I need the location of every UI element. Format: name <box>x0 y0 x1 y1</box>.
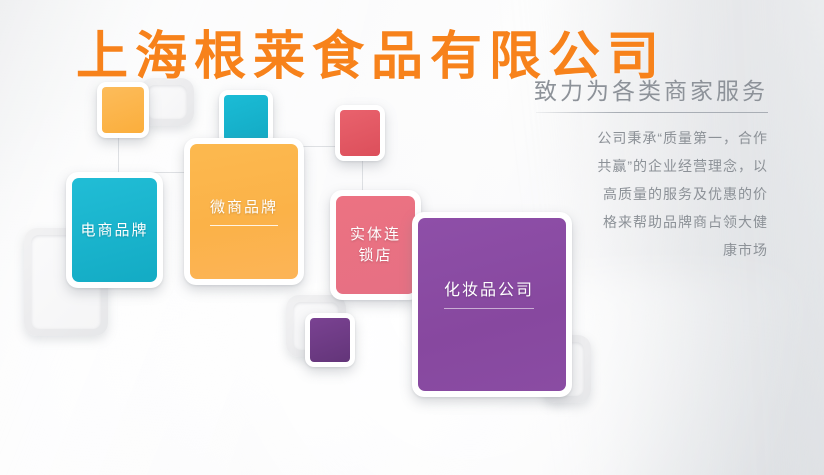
accent-square-purple[interactable] <box>305 313 355 367</box>
tile-retail-face: 实体连 锁店 <box>336 196 415 294</box>
page-subtitle: 致力为各类商家服务 <box>534 72 768 106</box>
poster-canvas: 电商品牌 微商品牌 实体连 锁店 化妆品公司 上海根莱食品有限公司 致力为各类商… <box>0 0 824 475</box>
accent-square-orange-face <box>102 87 144 133</box>
tile-cosmetics-label: 化妆品公司 <box>444 280 534 301</box>
accent-square-orange[interactable] <box>97 82 149 138</box>
tile-wechat-face: 微商品牌 <box>190 144 298 279</box>
tile-cosmetics[interactable]: 化妆品公司 <box>412 212 572 397</box>
tile-cosmetics-underline <box>444 308 534 309</box>
tile-ecommerce-label: 电商品牌 <box>80 220 148 241</box>
ghost-tile-top-inner <box>147 85 187 119</box>
tile-wechat[interactable]: 微商品牌 <box>184 138 304 285</box>
accent-square-red[interactable] <box>335 105 385 161</box>
tile-retail[interactable]: 实体连 锁店 <box>330 190 421 300</box>
accent-square-teal-face <box>224 95 268 141</box>
tile-cosmetics-face: 化妆品公司 <box>418 218 566 391</box>
tile-ecommerce[interactable]: 电商品牌 <box>66 172 163 288</box>
tile-wechat-label: 微商品牌 <box>210 197 278 218</box>
title-divider <box>536 112 768 113</box>
page-body-text: 公司秉承“质量第一，合作共赢”的企业经营理念，以高质量的服务及优惠的价格来帮助品… <box>590 124 768 264</box>
tile-wechat-underline <box>210 225 278 226</box>
tile-ecommerce-face: 电商品牌 <box>72 178 157 282</box>
accent-square-purple-face <box>310 318 350 362</box>
accent-square-red-face <box>340 110 380 156</box>
tile-retail-label: 实体连 锁店 <box>350 224 401 266</box>
